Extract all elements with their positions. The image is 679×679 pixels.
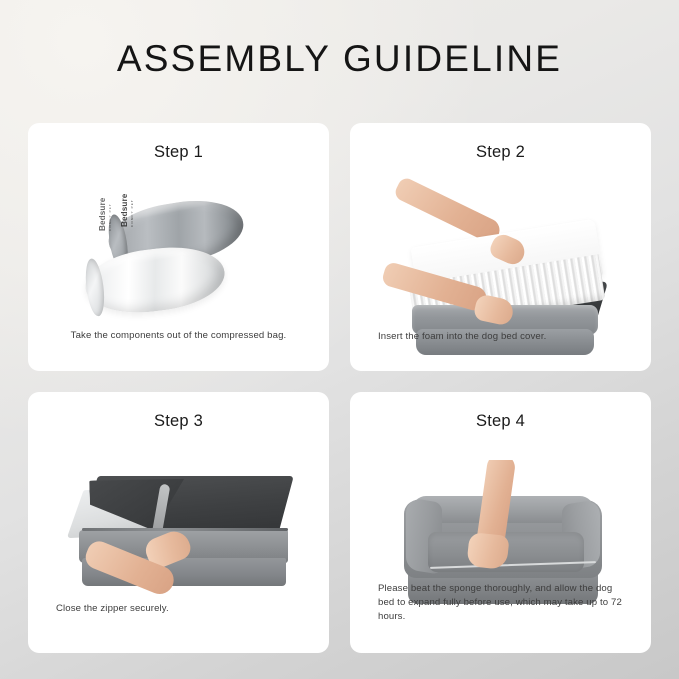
brand-subtext: COMFY PET bbox=[108, 198, 112, 231]
step-4-title: Step 4 bbox=[350, 412, 651, 431]
step-1-illustration: Bedsure COMFY PET Bedsure COMFY PET bbox=[28, 181, 329, 351]
step-card-2: Step 2 Insert the foam into the dog bed … bbox=[350, 123, 651, 371]
step-2-caption: Insert the foam into the dog bed cover. bbox=[378, 330, 627, 344]
step-2-title: Step 2 bbox=[350, 143, 651, 162]
step-3-caption: Close the zipper securely. bbox=[56, 602, 305, 616]
steps-grid: Step 1 Bedsure COMFY PET Bedsure COMFY P… bbox=[28, 123, 651, 653]
step-card-3: Step 3 Close the zipper securely. bbox=[28, 392, 329, 653]
brand-label-white-roll: Bedsure COMFY PET bbox=[98, 198, 112, 231]
step-4-caption: Please beat the sponge thoroughly, and a… bbox=[378, 582, 627, 624]
step-1-title: Step 1 bbox=[28, 143, 329, 162]
brand-subtext: COMFY PET bbox=[130, 194, 134, 227]
page-title: ASSEMBLY GUIDELINE bbox=[0, 38, 679, 80]
brand-name: Bedsure bbox=[98, 198, 107, 231]
step-1-caption: Take the components out of the compresse… bbox=[28, 329, 329, 343]
brand-label-gray-roll: Bedsure COMFY PET bbox=[120, 194, 134, 227]
brand-name: Bedsure bbox=[120, 194, 129, 227]
zipper-icon bbox=[82, 528, 288, 531]
compressed-roll-white-icon bbox=[82, 241, 229, 320]
step-card-1: Step 1 Bedsure COMFY PET Bedsure COMFY P… bbox=[28, 123, 329, 371]
step-card-4: Step 4 Please beat the sponge thoroughly… bbox=[350, 392, 651, 653]
step-3-title: Step 3 bbox=[28, 412, 329, 431]
